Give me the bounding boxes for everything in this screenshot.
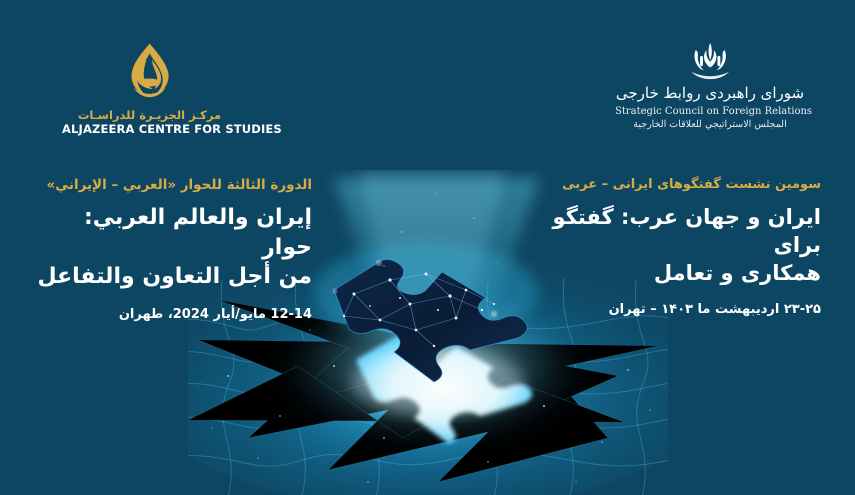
scfr-arabic-name: المجلس الاستراتيجي للعلاقات الخارجية <box>615 119 805 132</box>
persian-kicker: سومین نشست گفتگوهای ایرانی – عربی <box>531 176 821 194</box>
aljazeera-english-name: ALJAZEERA CENTRE FOR STUDIES <box>62 122 237 137</box>
persian-text-block: سومین نشست گفتگوهای ایرانی – عربی ایران … <box>531 176 821 319</box>
aljazeera-centre-logo: مركـز الجزيـرة للدراسـات ALJAZEERA CENTR… <box>62 42 237 137</box>
arabic-title-line-1: إيران والعالم العربي: حوار <box>84 205 312 259</box>
persian-title-line-1: ایران و جهان عرب: گفتگو برای <box>552 205 821 257</box>
scfr-english-name: Strategic Council on Foreign Relations <box>615 105 805 119</box>
aljazeera-arabic-name: مركـز الجزيـرة للدراسـات <box>62 108 237 122</box>
scfr-persian-name: شورای راهبردی روابط خارجی <box>615 84 805 102</box>
arabic-date-location: 12-14 مايو/أيار 2024، طهران <box>30 306 312 324</box>
iran-national-emblem-icon <box>674 40 746 82</box>
conference-banner: مركـز الجزيـرة للدراسـات ALJAZEERA CENTR… <box>0 0 855 495</box>
strategic-council-logo: شورای راهبردی روابط خارجی Strategic Coun… <box>615 40 805 131</box>
arabic-title: إيران والعالم العربي: حوار من أجل التعاو… <box>30 203 312 291</box>
persian-title: ایران و جهان عرب: گفتگو برای همکاری و تع… <box>531 203 821 287</box>
arabic-title-line-2: من أجل التعاون والتفاعل <box>37 264 312 289</box>
aljazeera-flame-calligraphy-icon <box>101 42 198 102</box>
arabic-text-block: الدورة الثالثة للحوار «العربي – الإيراني… <box>30 176 312 324</box>
persian-date-location: ۲۳-۲۵ اردیبهشت ما ۱۴۰۳ – تهران <box>531 301 821 319</box>
persian-title-line-2: همکاری و تعامل <box>654 261 821 285</box>
arabic-kicker: الدورة الثالثة للحوار «العربي – الإيراني… <box>30 176 312 194</box>
